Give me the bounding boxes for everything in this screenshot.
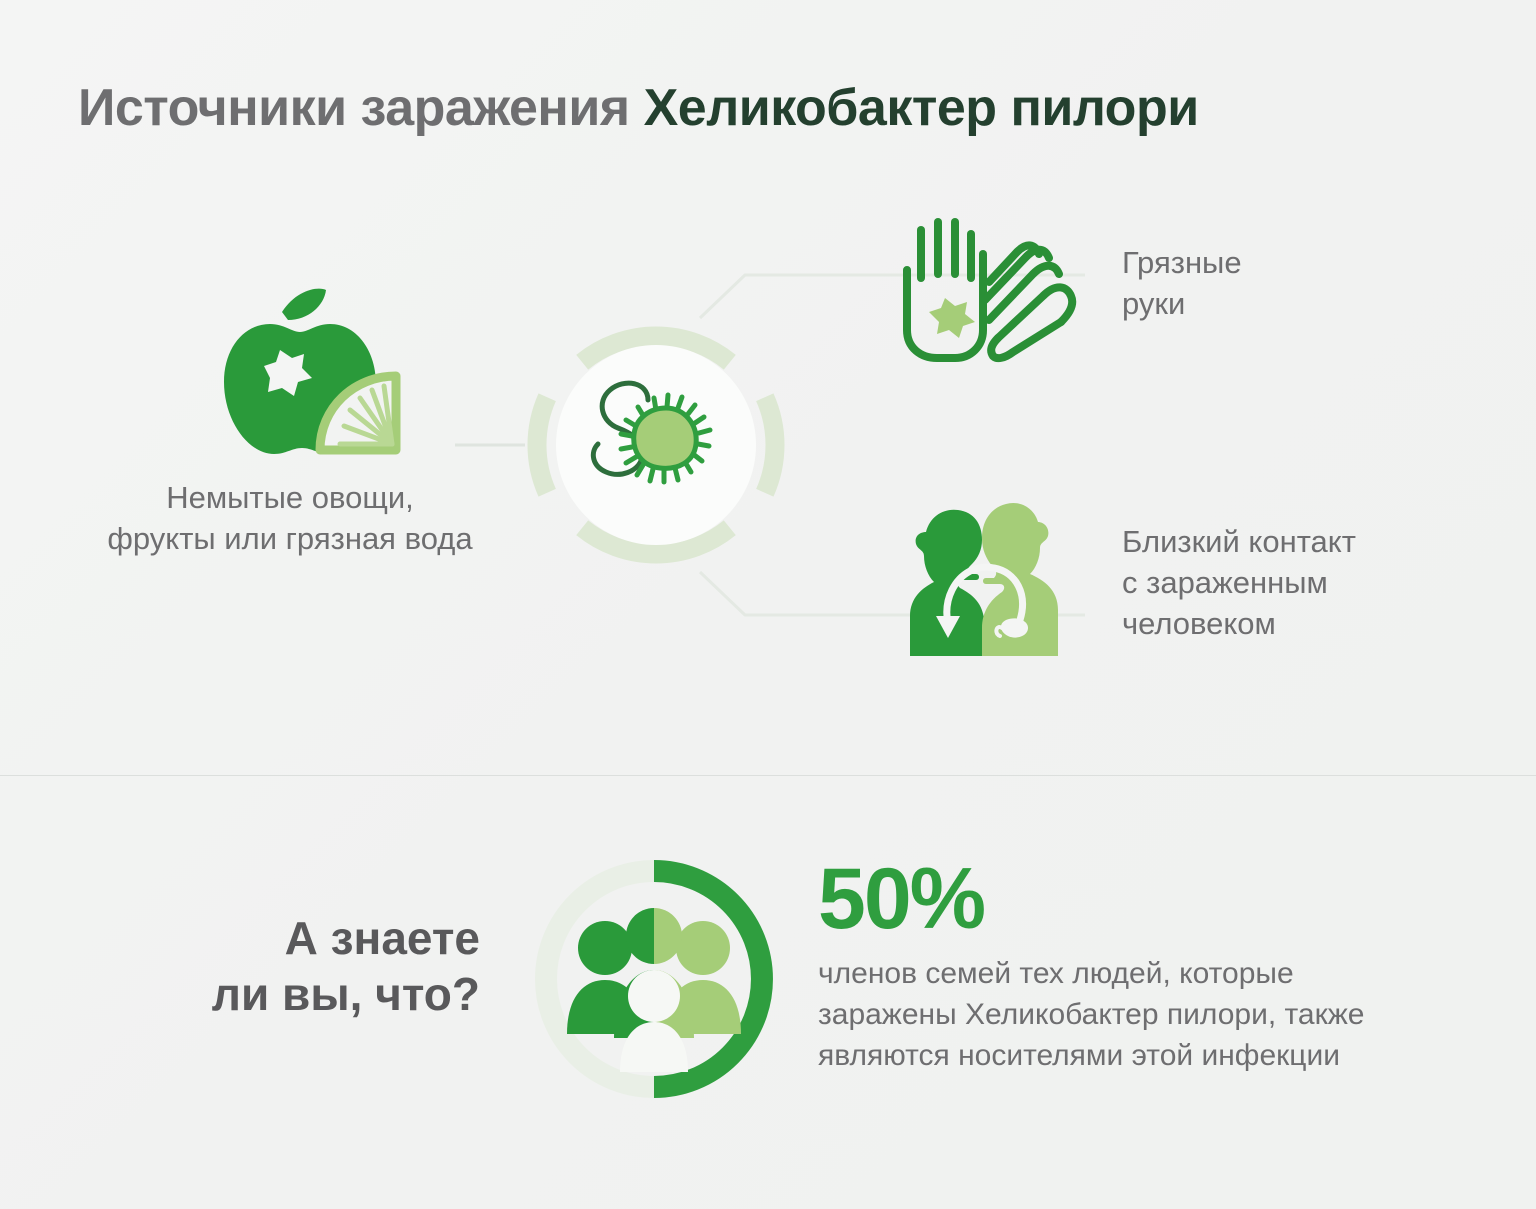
page-title: Источники заражения Хеликобактер пилори (78, 78, 1199, 138)
label-unwashed-food-line2: фрукты или грязная вода (60, 519, 520, 560)
section-divider (0, 775, 1536, 776)
statistic-value: 50% (818, 858, 1488, 941)
statistic-block: 50% членов семей тех людей, которые зара… (818, 858, 1488, 1077)
infographic-page: Источники заражения Хеликобактер пилори (0, 0, 1536, 1209)
label-unwashed-food-line1: Немытые овощи, (60, 478, 520, 519)
dirty-hands-icon (893, 208, 1078, 363)
label-close-contact: Близкий контакт с зараженным человеком (1122, 522, 1356, 645)
apple-and-lime-icon (198, 272, 408, 467)
statistic-description-line2: заражены Хеликобактер пилори, также (818, 994, 1488, 1035)
page-title-green-part: Хеликобактер пилори (644, 79, 1199, 137)
statistic-description-line1: членов семей тех людей, которые (818, 953, 1488, 994)
did-you-know-heading-line1: А знаете (60, 910, 480, 966)
label-dirty-hands-line2: руки (1122, 284, 1242, 325)
family-group-donut-icon (527, 848, 782, 1110)
close-contact-people-icon (888, 498, 1078, 656)
did-you-know-heading: А знаете ли вы, что? (60, 910, 480, 1022)
label-dirty-hands-line1: Грязные (1122, 243, 1242, 284)
label-unwashed-food: Немытые овощи, фрукты или грязная вода (60, 478, 520, 560)
did-you-know-heading-line2: ли вы, что? (60, 966, 480, 1022)
page-title-gray-part: Источники заражения (78, 79, 644, 137)
label-close-contact-line3: человеком (1122, 604, 1356, 645)
label-close-contact-line2: с зараженным (1122, 563, 1356, 604)
statistic-description-line3: являются носителями этой инфекции (818, 1035, 1488, 1076)
statistic-description: членов семей тех людей, которые заражены… (818, 953, 1488, 1077)
helicobacter-bacterium-icon (562, 370, 732, 505)
label-dirty-hands: Грязные руки (1122, 243, 1242, 325)
label-close-contact-line1: Близкий контакт (1122, 522, 1356, 563)
